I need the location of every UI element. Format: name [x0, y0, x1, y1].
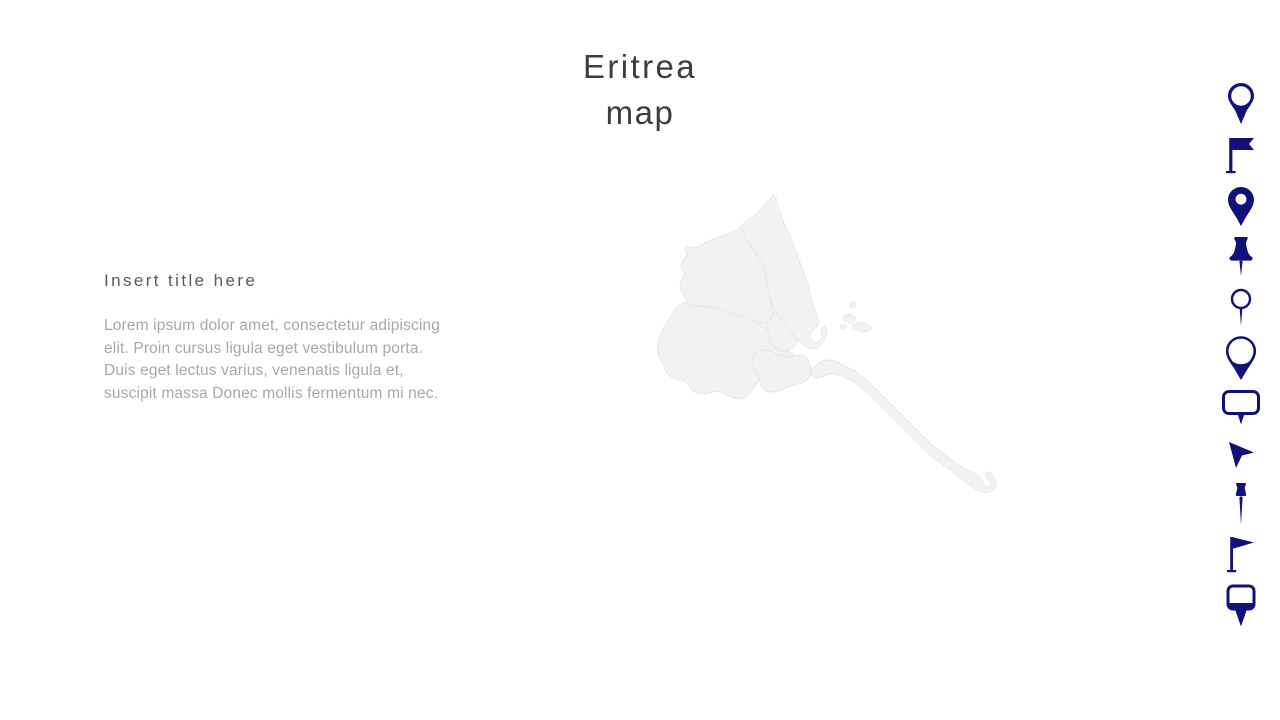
pennant-flag-icon[interactable] — [1214, 530, 1268, 580]
flag-swallowtail-icon[interactable] — [1214, 130, 1268, 182]
page-title-line-2: map — [440, 90, 840, 136]
map-pin-hollow-icon[interactable] — [1214, 332, 1268, 384]
square-marker-icon[interactable] — [1214, 580, 1268, 630]
map-region-south — [752, 350, 811, 392]
map-island-dahlak-a — [850, 301, 856, 308]
map-pin-outline-circle-icon[interactable] — [1214, 78, 1268, 130]
map-island-dahlak-b — [843, 314, 856, 323]
speech-bubble-marker-icon[interactable] — [1214, 384, 1268, 432]
panel-heading: Insert title here — [104, 270, 456, 292]
page-title-line-1: Eritrea — [440, 44, 840, 90]
text-panel: Insert title here Lorem ipsum dolor amet… — [104, 270, 456, 405]
panel-body-text: Lorem ipsum dolor amet, consectetur adip… — [104, 315, 452, 405]
pushpin-icon[interactable] — [1214, 232, 1268, 284]
map-region-southeast-coast — [811, 360, 996, 493]
map-island-dahlak-c — [853, 322, 872, 332]
marker-icon-rail — [1214, 78, 1268, 638]
tack-needle-icon[interactable] — [1214, 478, 1268, 530]
needle-pin-icon[interactable] — [1214, 284, 1268, 332]
page-title: Eritrea map — [440, 44, 840, 136]
eritrea-map[interactable] — [645, 185, 1025, 505]
slide-canvas: Eritrea map Insert title here Lorem ipsu… — [0, 0, 1280, 720]
map-island-dahlak-d — [840, 324, 847, 329]
map-pin-solid-icon[interactable] — [1214, 182, 1268, 232]
cursor-arrow-icon[interactable] — [1214, 432, 1268, 478]
